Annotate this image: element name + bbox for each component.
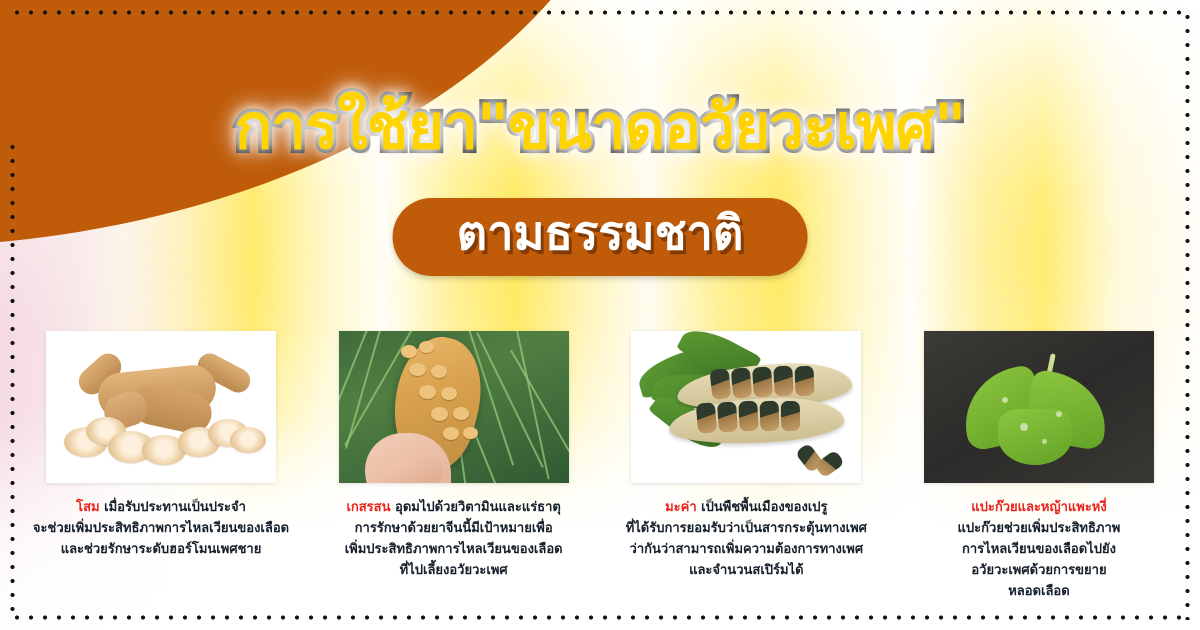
caption-keyword: มะค่า — [665, 500, 697, 515]
caption-line: อวัยวะเพศด้วยการขยาย — [900, 560, 1178, 581]
dotted-border-top — [10, 10, 1190, 15]
card-row: โสม เมื่อรับประทานเป็นประจำ จะช่วยเพิ่มป… — [22, 331, 1178, 602]
card-caption: มะค่า เป็นพืชพื้นเมืองของเปรู ที่ได้รับก… — [607, 497, 885, 581]
caption-line: จะช่วยเพิ่มประสิทธิภาพการไหลเวียนของเลือ… — [22, 518, 300, 539]
infographic-poster: การใช้ยา"ขนาดอวัยวะเพศ" ตามธรรมชาติ โสม … — [0, 0, 1200, 630]
pine-pollen-cone-photo — [339, 331, 569, 483]
list-item: เกสรสน อุดมไปด้วยวิตามินและแร่ธาตุ การรั… — [315, 331, 593, 581]
caption-line: หลอดเลือด — [900, 581, 1178, 602]
page-title: การใช้ยา"ขนาดอวัยวะเพศ" — [0, 96, 1200, 158]
ginkgo-leaf-photo — [924, 331, 1154, 483]
caption-line: การไหลเวียนของเลือดไปยัง — [900, 539, 1178, 560]
list-item: โสม เมื่อรับประทานเป็นประจำ จะช่วยเพิ่มป… — [22, 331, 300, 560]
caption-line: ที่ไปเลี้ยงอวัยวะเพศ — [315, 560, 593, 581]
caption-line: ที่ได้รับการยอมรับว่าเป็นสารกระตุ้นทางเพ… — [607, 518, 885, 539]
caption-line: อุดมไปด้วยวิตามินและแร่ธาตุ — [391, 500, 561, 515]
caption-line: เมื่อรับประทานเป็นประจำ — [100, 500, 246, 515]
maca-seed-pod-photo — [631, 331, 861, 483]
card-caption: โสม เมื่อรับประทานเป็นประจำ จะช่วยเพิ่มป… — [22, 497, 300, 560]
subtitle-label: ตามธรรมชาติ — [457, 206, 744, 262]
caption-keyword: เกสรสน — [346, 500, 390, 515]
caption-keyword: โสม — [76, 500, 100, 515]
card-caption: แปะก๊วยและหญ้าแพะหงี่ แปะก๊วยช่วยเพิ่มปร… — [900, 497, 1178, 602]
list-item: มะค่า เป็นพืชพื้นเมืองของเปรู ที่ได้รับก… — [607, 331, 885, 581]
caption-line: เพิ่มประสิทธิภาพการไหลเวียนของเลือด — [315, 539, 593, 560]
dotted-border-left — [10, 140, 15, 620]
subtitle-badge: ตามธรรมชาติ — [393, 198, 808, 276]
list-item: แปะก๊วยและหญ้าแพะหงี่ แปะก๊วยช่วยเพิ่มปร… — [900, 331, 1178, 602]
caption-keyword: แปะก๊วยและหญ้าแพะหงี่ — [900, 497, 1178, 518]
caption-line: แปะก๊วยช่วยเพิ่มประสิทธิภาพ — [900, 518, 1178, 539]
caption-line: การรักษาด้วยยาจีนนี้มีเป้าหมายเพื่อ — [315, 518, 593, 539]
card-caption: เกสรสน อุดมไปด้วยวิตามินและแร่ธาตุ การรั… — [315, 497, 593, 581]
dotted-border-bottom — [10, 615, 1190, 620]
caption-line: และช่วยรักษาระดับฮอร์โมนเพศชาย — [22, 539, 300, 560]
caption-line: และจำนวนสเปิร์มได้ — [607, 560, 885, 581]
ginseng-root-photo — [46, 331, 276, 483]
caption-line: ว่ากันว่าสามารถเพิ่มความต้องการทางเพศ — [607, 539, 885, 560]
caption-line: เป็นพืชพื้นเมืองของเปรู — [697, 500, 828, 515]
